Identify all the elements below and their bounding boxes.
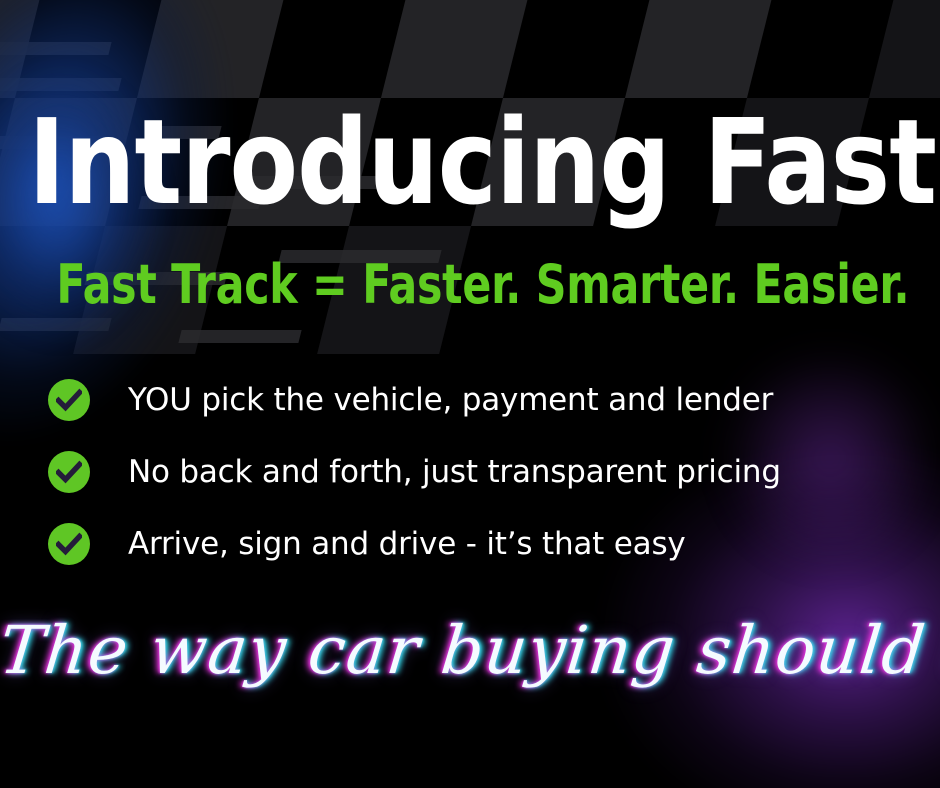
list-item-label: YOU pick the vehicle, payment and lender	[128, 382, 773, 418]
check-circle-icon	[48, 379, 90, 421]
poster-content: Introducing Fast Track Fast Track = Fast…	[0, 0, 940, 788]
subtitle: Fast Track = Faster. Smarter. Easier.	[56, 258, 883, 312]
benefits-list: YOU pick the vehicle, payment and lender…	[48, 375, 908, 591]
list-item: YOU pick the vehicle, payment and lender	[48, 375, 908, 425]
list-item: No back and forth, just transparent pric…	[48, 447, 908, 497]
list-item: Arrive, sign and drive - it’s that easy	[48, 519, 908, 569]
page-title: Introducing Fast Track	[28, 103, 912, 221]
check-circle-icon	[48, 523, 90, 565]
promo-poster: Introducing Fast Track Fast Track = Fast…	[0, 0, 940, 788]
check-circle-icon	[48, 451, 90, 493]
tagline: The way car buying should be.	[0, 612, 940, 689]
list-item-label: No back and forth, just transparent pric…	[128, 454, 781, 490]
list-item-label: Arrive, sign and drive - it’s that easy	[128, 526, 686, 562]
